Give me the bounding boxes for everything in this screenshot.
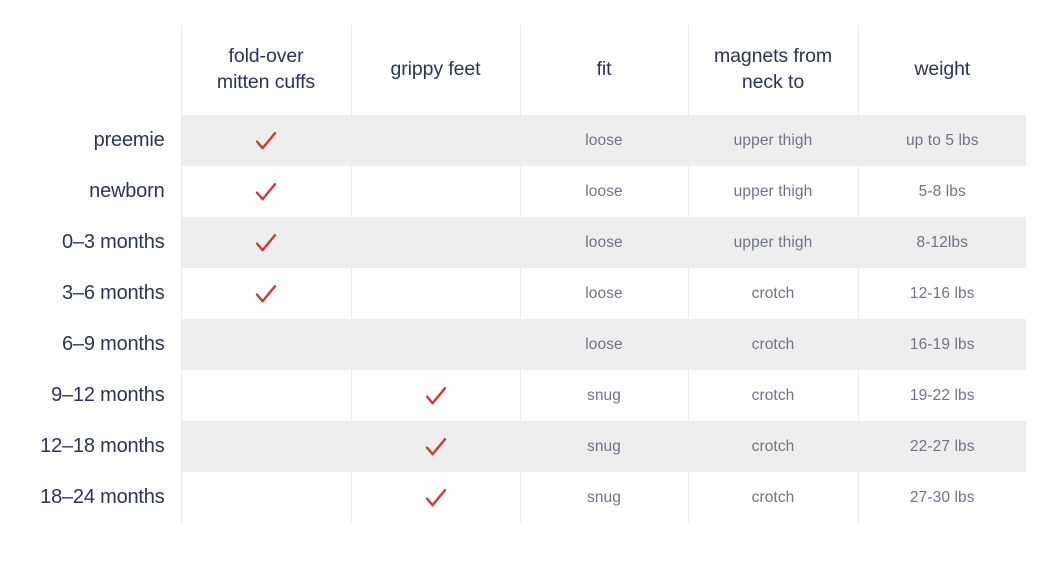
- cell-weight-5: 19-22 lbs: [858, 370, 1026, 421]
- cell-fit-4: loose: [520, 319, 688, 370]
- check-icon: [253, 128, 279, 154]
- table-row: 9–12 monthssnugcrotch19-22 lbs: [0, 370, 1026, 421]
- cell-weight-2: 8-12lbs: [858, 217, 1026, 268]
- column-header-magnets: magnets from neck to: [688, 25, 858, 115]
- header-row: fold-over mitten cuffs grippy feet fit m…: [0, 25, 1026, 115]
- cell-grippy-feet-5: [351, 370, 520, 421]
- cell-weight-7: 27-30 lbs: [858, 472, 1026, 523]
- size-comparison-table: fold-over mitten cuffs grippy feet fit m…: [0, 25, 1026, 523]
- table-header: fold-over mitten cuffs grippy feet fit m…: [0, 25, 1026, 115]
- table-row: 6–9 monthsloosecrotch16-19 lbs: [0, 319, 1026, 370]
- cell-mitten-cuffs-2: [181, 217, 351, 268]
- column-header-mitten-cuffs: fold-over mitten cuffs: [181, 25, 351, 115]
- cell-magnets-0: upper thigh: [688, 115, 858, 166]
- cell-magnets-6: crotch: [688, 421, 858, 472]
- check-icon: [423, 383, 449, 409]
- cell-fit-3: loose: [520, 268, 688, 319]
- check-icon: [253, 179, 279, 205]
- cell-grippy-feet-7: [351, 472, 520, 523]
- table-row: 18–24 monthssnugcrotch27-30 lbs: [0, 472, 1026, 523]
- check-icon: [253, 230, 279, 256]
- cell-magnets-4: crotch: [688, 319, 858, 370]
- row-label-4: 6–9 months: [0, 319, 181, 370]
- row-label-2: 0–3 months: [0, 217, 181, 268]
- cell-weight-1: 5-8 lbs: [858, 166, 1026, 217]
- cell-mitten-cuffs-0: [181, 115, 351, 166]
- cell-fit-0: loose: [520, 115, 688, 166]
- table-body: preemielooseupper thighup to 5 lbsnewbor…: [0, 115, 1026, 523]
- cell-fit-7: snug: [520, 472, 688, 523]
- cell-mitten-cuffs-6: [181, 421, 351, 472]
- table-row: 0–3 monthslooseupper thigh8-12lbs: [0, 217, 1026, 268]
- column-header-magnets-line2: neck to: [742, 71, 804, 93]
- cell-magnets-5: crotch: [688, 370, 858, 421]
- row-label-3: 3–6 months: [0, 268, 181, 319]
- cell-mitten-cuffs-7: [181, 472, 351, 523]
- cell-fit-6: snug: [520, 421, 688, 472]
- cell-mitten-cuffs-5: [181, 370, 351, 421]
- row-label-6: 12–18 months: [0, 421, 181, 472]
- size-comparison-chart: fold-over mitten cuffs grippy feet fit m…: [0, 0, 1038, 569]
- cell-grippy-feet-0: [351, 115, 520, 166]
- column-header-magnets-line1: magnets from: [714, 45, 832, 67]
- cell-weight-6: 22-27 lbs: [858, 421, 1026, 472]
- column-header-mitten-cuffs-line2: mitten cuffs: [217, 71, 315, 93]
- cell-fit-2: loose: [520, 217, 688, 268]
- check-icon: [423, 485, 449, 511]
- cell-weight-3: 12-16 lbs: [858, 268, 1026, 319]
- row-label-5: 9–12 months: [0, 370, 181, 421]
- cell-magnets-2: upper thigh: [688, 217, 858, 268]
- column-header-fit: fit: [520, 25, 688, 115]
- cell-magnets-7: crotch: [688, 472, 858, 523]
- cell-grippy-feet-4: [351, 319, 520, 370]
- cell-grippy-feet-3: [351, 268, 520, 319]
- cell-magnets-1: upper thigh: [688, 166, 858, 217]
- row-label-7: 18–24 months: [0, 472, 181, 523]
- cell-weight-4: 16-19 lbs: [858, 319, 1026, 370]
- table-row: 12–18 monthssnugcrotch22-27 lbs: [0, 421, 1026, 472]
- column-header-mitten-cuffs-line1: fold-over: [229, 45, 304, 67]
- column-header-grippy-feet: grippy feet: [351, 25, 520, 115]
- cell-grippy-feet-6: [351, 421, 520, 472]
- table-row: 3–6 monthsloosecrotch12-16 lbs: [0, 268, 1026, 319]
- row-label-1: newborn: [0, 166, 181, 217]
- table-row: newbornlooseupper thigh5-8 lbs: [0, 166, 1026, 217]
- row-label-0: preemie: [0, 115, 181, 166]
- table-corner-cell: [0, 25, 181, 115]
- cell-mitten-cuffs-4: [181, 319, 351, 370]
- cell-grippy-feet-1: [351, 166, 520, 217]
- column-header-weight: weight: [858, 25, 1026, 115]
- check-icon: [423, 434, 449, 460]
- cell-magnets-3: crotch: [688, 268, 858, 319]
- cell-mitten-cuffs-3: [181, 268, 351, 319]
- cell-mitten-cuffs-1: [181, 166, 351, 217]
- cell-weight-0: up to 5 lbs: [858, 115, 1026, 166]
- cell-fit-1: loose: [520, 166, 688, 217]
- cell-fit-5: snug: [520, 370, 688, 421]
- cell-grippy-feet-2: [351, 217, 520, 268]
- check-icon: [253, 281, 279, 307]
- table-row: preemielooseupper thighup to 5 lbs: [0, 115, 1026, 166]
